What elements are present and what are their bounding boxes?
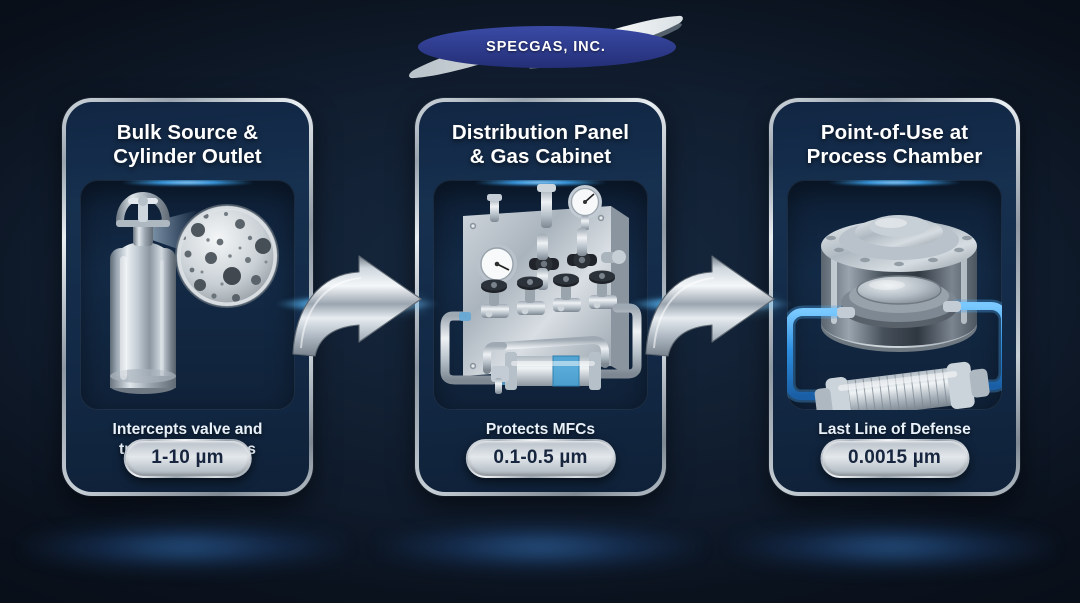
point-of-use-filter	[813, 359, 991, 410]
card-title: Bulk Source & Cylinder Outlet	[66, 102, 309, 169]
card-underglow	[20, 525, 350, 569]
logo-ellipse	[418, 26, 676, 68]
card-title: Point-of-Use at Process Chamber	[773, 102, 1016, 169]
stage-card-bulk-source[interactable]: Bulk Source & Cylinder Outlet	[62, 98, 313, 496]
card-illustration-panel	[80, 180, 295, 410]
arrow-shape	[293, 256, 421, 356]
card-illustration-panel	[433, 180, 648, 410]
infographic-canvas: SPECGAS, INC.	[0, 0, 1080, 603]
inline-filter	[505, 352, 601, 390]
card-underglow	[375, 525, 705, 569]
card-underglow	[728, 525, 1058, 569]
card-badge: 0.1-0.5 µm	[465, 439, 615, 478]
card-badge-label: 0.1-0.5 µm	[467, 441, 613, 476]
card-badge: 0.0015 µm	[820, 439, 969, 478]
card-title: Distribution Panel & Gas Cabinet	[419, 102, 662, 169]
card-inner: Bulk Source & Cylinder Outlet	[66, 102, 309, 492]
card-badge: 1-10 µm	[123, 439, 252, 478]
gas-distribution-panel-icon	[433, 180, 648, 410]
card-badge-label: 1-10 µm	[125, 441, 250, 476]
flow-arrow-2	[638, 250, 808, 360]
card-inner: Point-of-Use at Process Chamber	[773, 102, 1016, 492]
flow-arrow-1	[285, 250, 455, 360]
gas-cylinder-with-particle-magnifier-icon	[80, 180, 295, 410]
arrow-shape	[646, 256, 774, 356]
card-inner: Distribution Panel & Gas Cabinet	[419, 102, 662, 492]
card-illustration-panel	[787, 180, 1002, 410]
card-badge-label: 0.0015 µm	[822, 441, 967, 476]
process-chamber-with-pou-filter-icon	[787, 180, 1002, 410]
specgas-logo: SPECGAS, INC.	[406, 4, 686, 90]
